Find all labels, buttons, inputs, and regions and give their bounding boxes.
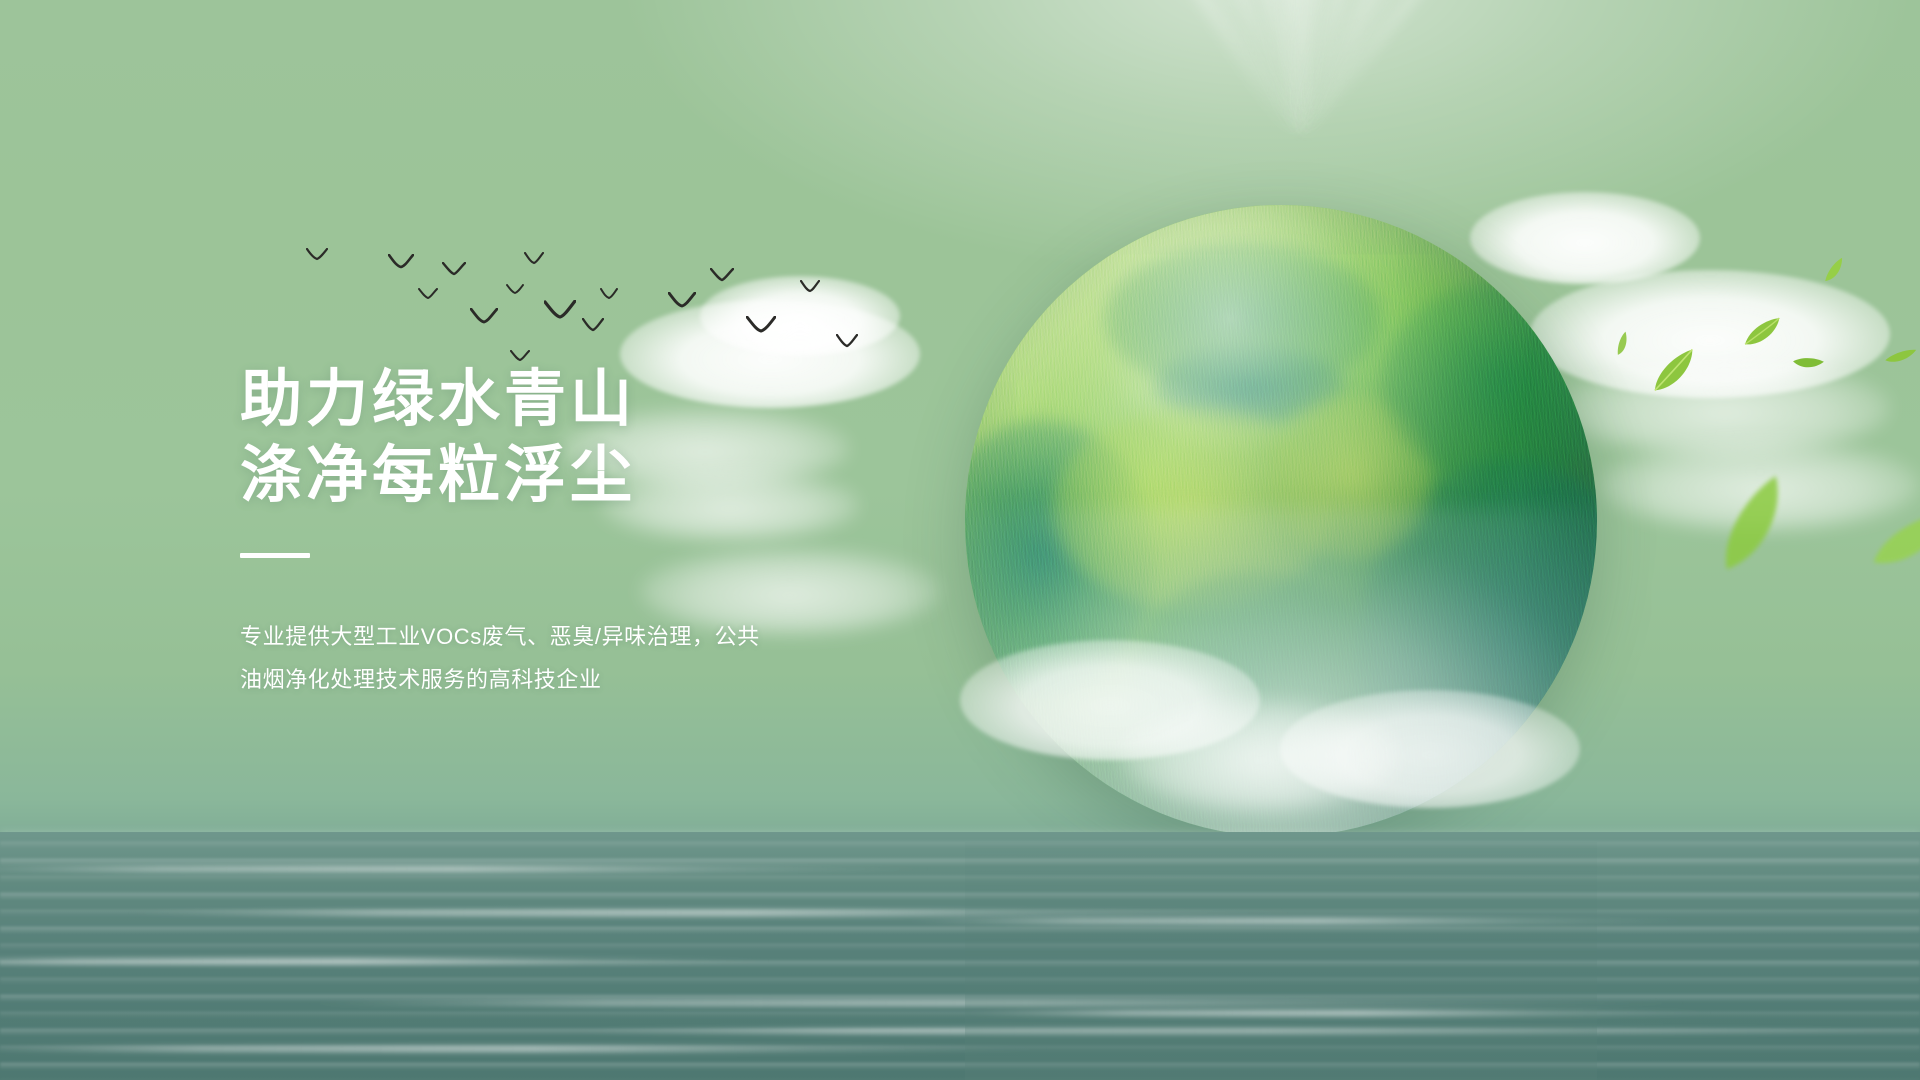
hero-copy: 助力绿水青山 涤净每粒浮尘 专业提供大型工业VOCs废气、恶臭/异味治理，公共油… — [240, 362, 940, 724]
bird-icon — [524, 252, 544, 265]
bird-icon — [388, 254, 414, 270]
bird-icon — [582, 318, 604, 332]
headline-line-1: 助力绿水青山 — [240, 362, 940, 438]
cloud-front-globe-center — [1120, 700, 1400, 810]
globe-reflection-veil — [965, 842, 1597, 1080]
bird-icon — [306, 248, 328, 262]
bird-icon — [470, 308, 498, 325]
bird-icon — [506, 284, 524, 295]
ripple-over-reflection-1 — [900, 918, 1700, 924]
bird-icon — [544, 300, 576, 320]
bird-icon — [418, 288, 438, 300]
hero-subtitle: 专业提供大型工业VOCs废气、恶臭/异味治理，公共油烟净化处理技术服务的高科技企… — [240, 616, 770, 702]
bird-icon — [600, 288, 618, 300]
bird-icon — [510, 350, 530, 362]
ripple-over-reflection-2 — [960, 1010, 1720, 1016]
bird-icon — [668, 292, 696, 309]
page-title: 助力绿水青山 涤净每粒浮尘 — [240, 362, 940, 513]
bird-icon — [746, 316, 776, 334]
hero-banner: 助力绿水青山 涤净每粒浮尘 专业提供大型工业VOCs废气、恶臭/异味治理，公共油… — [0, 0, 1920, 1080]
globe-reflection — [965, 842, 1597, 1080]
headline-line-2: 涤净每粒浮尘 — [240, 438, 940, 514]
title-divider — [240, 553, 310, 558]
ripple-band-5 — [0, 1046, 1060, 1052]
bird-icon — [710, 268, 734, 283]
bird-icon — [442, 262, 466, 277]
bird-icon — [800, 280, 820, 293]
water-surface — [0, 832, 1920, 1080]
bird-icon — [836, 334, 858, 348]
